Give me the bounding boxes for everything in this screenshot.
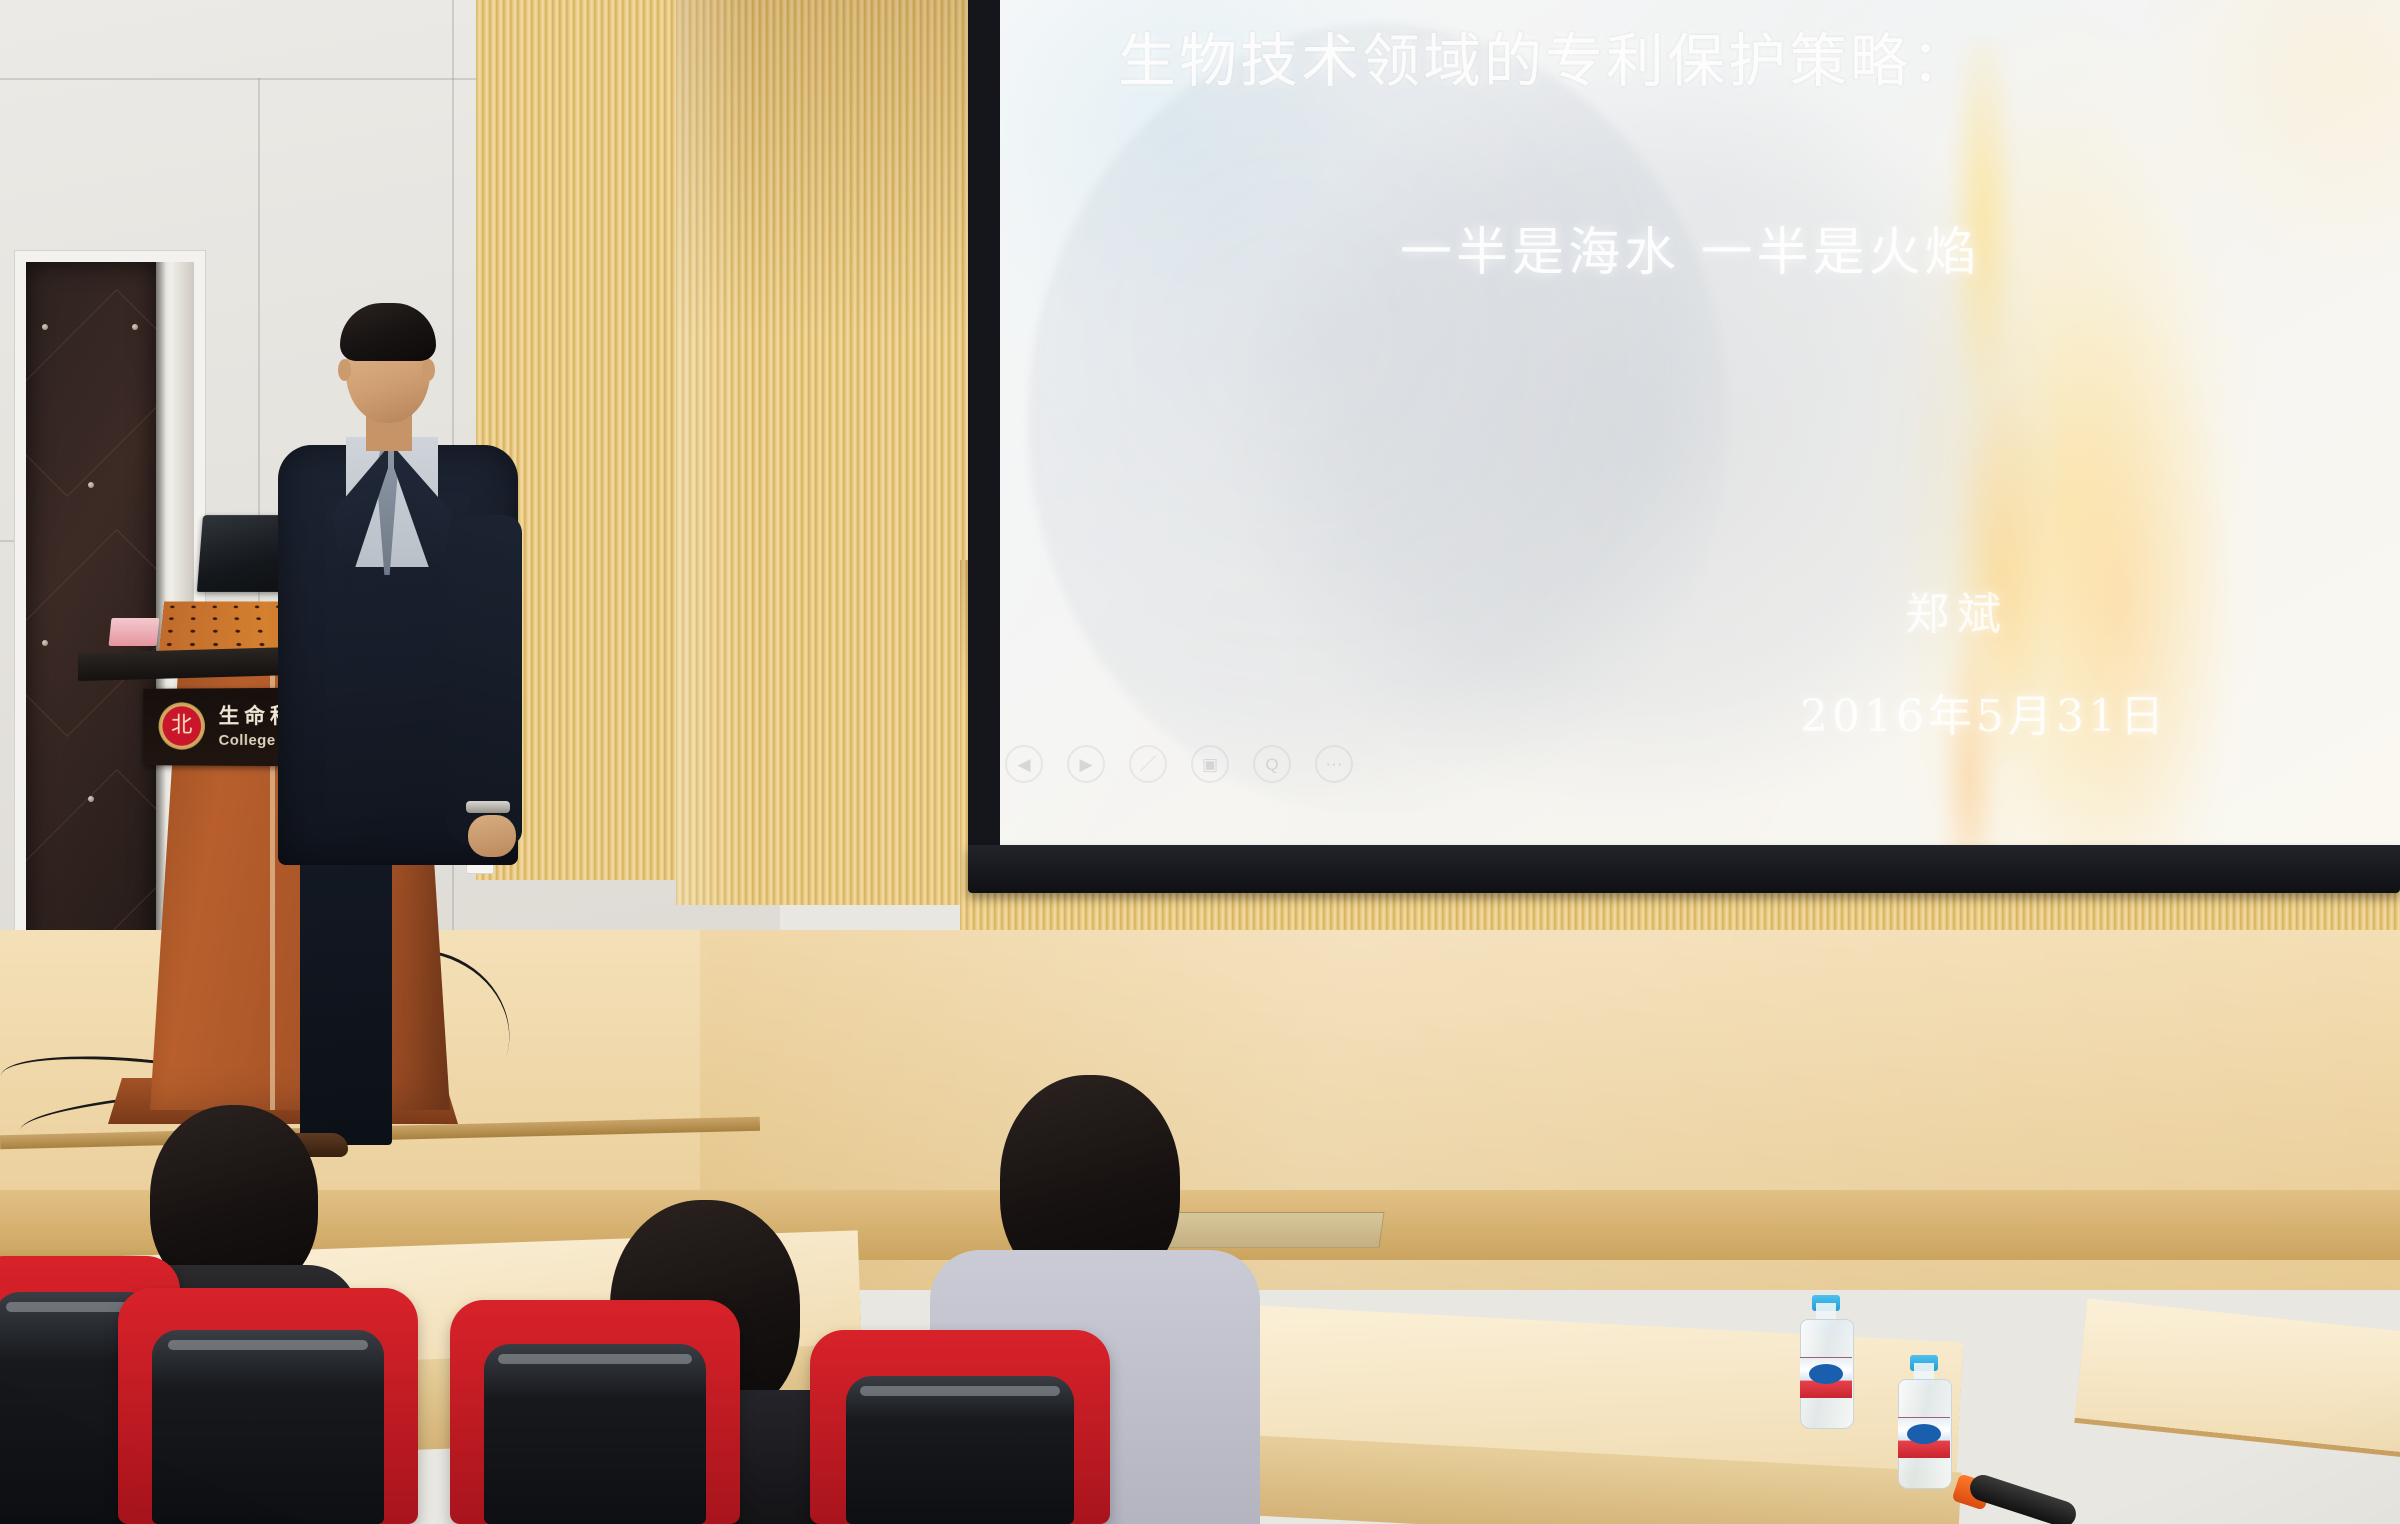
wood-slat-panel-center [676,0,976,905]
presenter [270,295,530,1015]
presenter-ear-left [338,359,351,381]
bottle-label [1898,1417,1950,1458]
bottle-label [1800,1357,1852,1398]
auditorium-chair[interactable] [450,1300,740,1524]
seal-glyph: 北 [169,713,194,739]
pink-box-on-podium [109,618,160,646]
slide-subtitle: 一半是海水 一半是火焰 [1400,210,1981,285]
projection-screen-bottom-bar [968,845,2400,893]
wristwatch [466,801,510,813]
slide-author: 郑斌 [1905,578,2009,642]
all-slides-icon[interactable]: ▣ [1191,745,1229,783]
pen-tool-icon[interactable]: ／ [1129,745,1167,783]
auditorium-chair[interactable] [810,1330,1110,1524]
presenter-hair [340,303,436,361]
water-bottle[interactable] [1800,1295,1852,1427]
planet-graphic [1028,24,1728,814]
presenter-right-arm [446,515,522,845]
next-slide-icon[interactable]: ▶ [1067,745,1105,783]
auditorium-chair[interactable] [118,1288,418,1524]
more-options-icon[interactable]: ⋯ [1315,745,1353,783]
water-bottle[interactable] [1898,1355,1950,1487]
zoom-icon[interactable]: Q [1253,745,1291,783]
peking-university-seal-icon: 北 [159,702,205,749]
lecture-hall-photo: 生物技术领域的专利保护策略： 一半是海水 一半是火焰 郑斌 2016年5月31日… [0,0,2400,1524]
slide-title: 生物技术领域的专利保护策略： [1118,14,1972,98]
presenter-hand [468,815,516,857]
projected-slide: 生物技术领域的专利保护策略： 一半是海水 一半是火焰 郑斌 2016年5月31日… [1000,0,2400,845]
audience-desk-top-right [2075,1298,2400,1461]
slide-date: 2016年5月31日 [1800,680,2168,744]
prev-slide-icon[interactable]: ◀ [1005,745,1043,783]
powerpoint-presenter-controls[interactable]: ◀ ▶ ／ ▣ Q ⋯ [1005,745,1353,783]
presenter-ear-right [422,359,435,381]
handheld-microphone-body[interactable] [1967,1472,2080,1524]
